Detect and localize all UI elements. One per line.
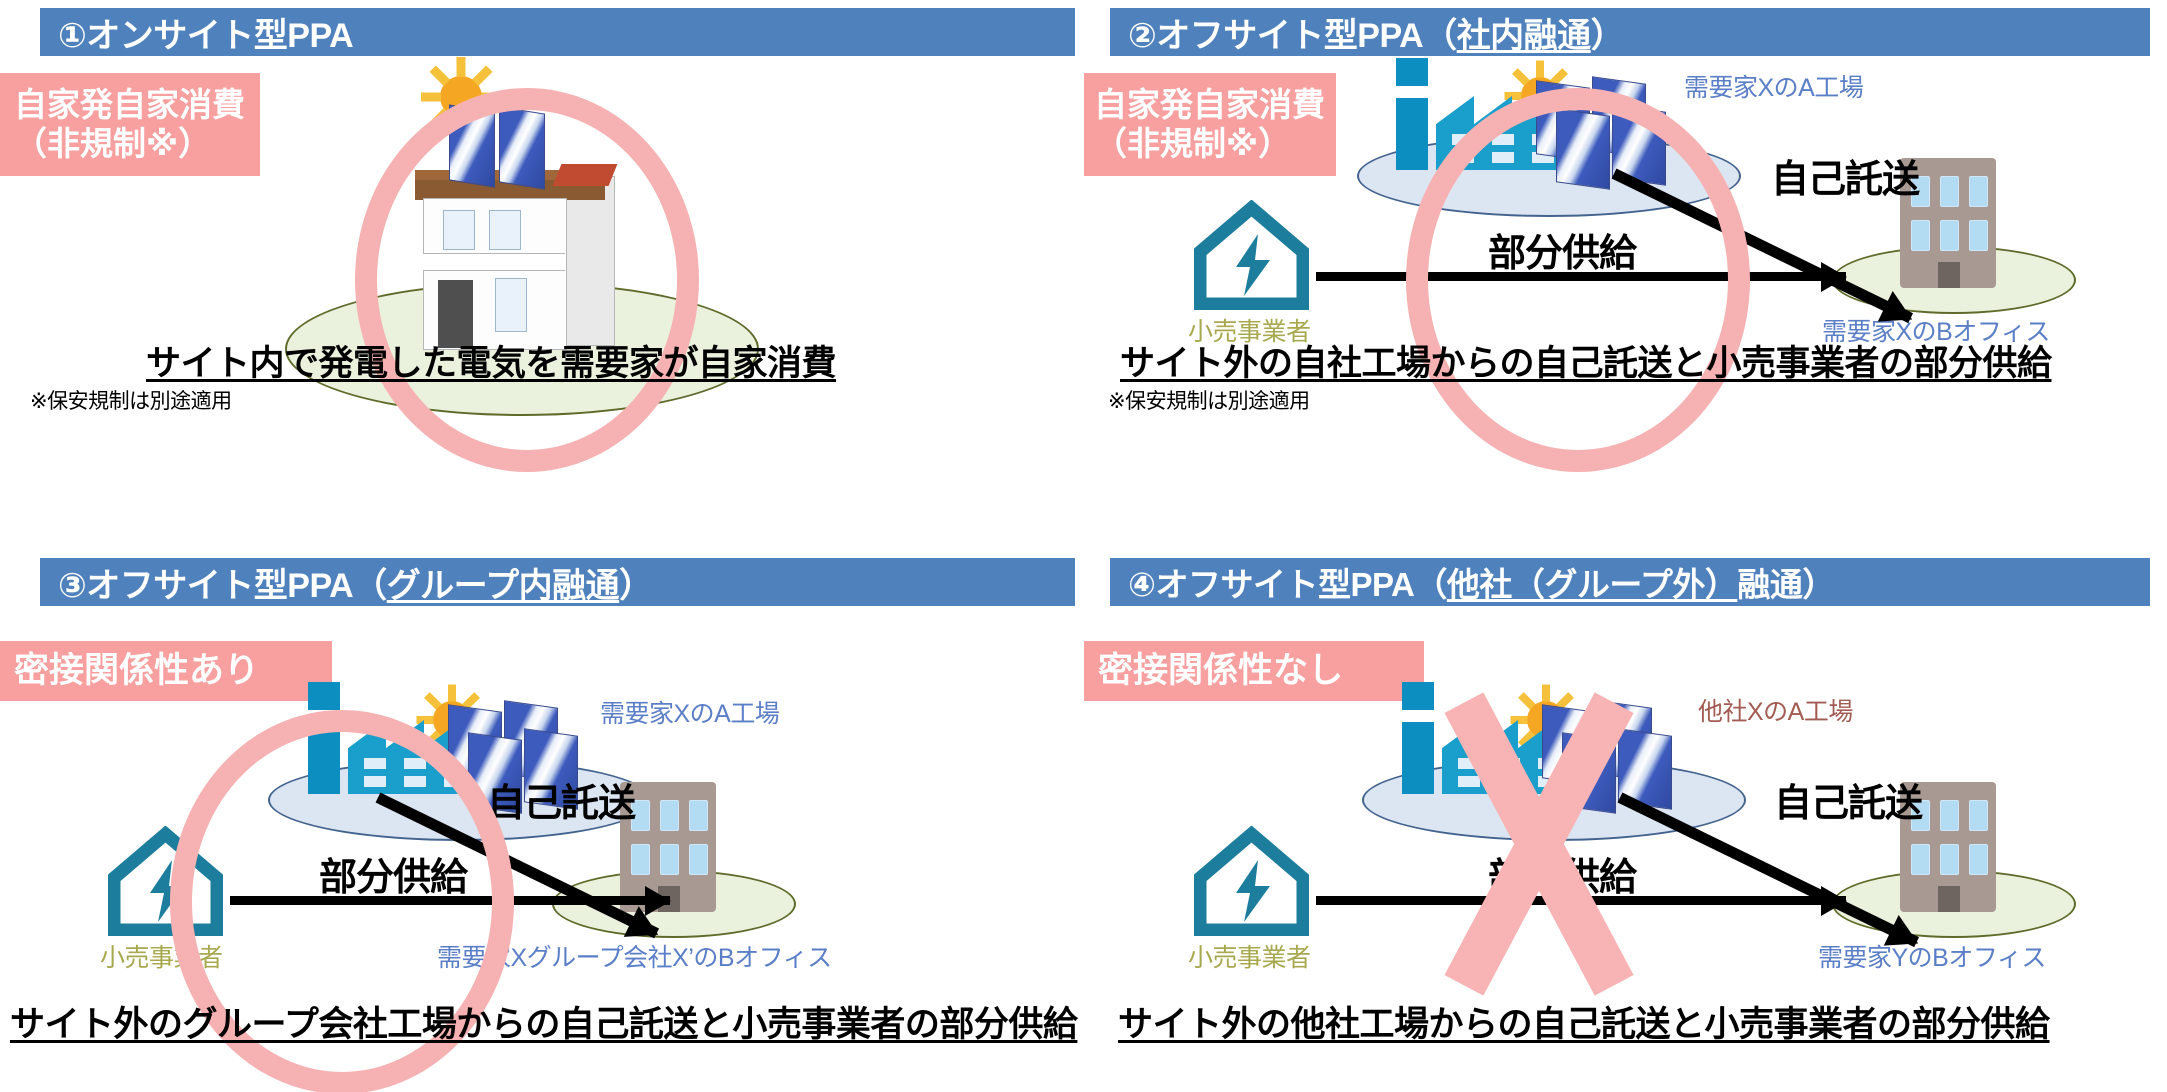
panel-header-3-underlined: グループ内融通 xyxy=(387,558,619,607)
self-wheeling-label-4: 自己託送 xyxy=(1774,772,1922,827)
factory-label-3: 需要家XのA工場 xyxy=(600,694,779,730)
prohibition-circle-icon-2 xyxy=(1406,88,1750,472)
badge-close-relation-4: 密接関係性なし xyxy=(1084,641,1424,701)
panel-header-2-suffix: ） xyxy=(1591,8,1625,57)
panel-header-3-suffix: ） xyxy=(619,558,653,607)
factory-label-2: 需要家XのA工場 xyxy=(1684,68,1863,104)
panel-header-2-prefix: ②オフサイト型PPA（ xyxy=(1128,8,1457,57)
caption-4: サイト外の他社工場からの自己託送と小売事業者の部分供給 xyxy=(1118,996,2050,1047)
office-label-4: 需要家YのBオフィス xyxy=(1818,938,2046,974)
panel-header-1: ①オンサイト型PPA xyxy=(40,8,1075,56)
panel-header-2: ②オフサイト型PPA（社内融通） xyxy=(1110,8,2150,56)
lightning-bolt-icon-2 xyxy=(1230,234,1276,296)
badge-self-generation-1: 自家発自家消費 （非規制※） xyxy=(0,73,260,176)
badge-close-relation-3: 密接関係性あり xyxy=(0,641,332,701)
footnote-1: ※保安規制は別途適用 xyxy=(30,385,232,415)
prohibition-circle-icon-1 xyxy=(355,88,699,472)
factory-label-4: 他社XのA工場 xyxy=(1698,692,1853,728)
panel-header-4-underlined: 他社（グループ外） xyxy=(1447,558,1738,606)
badge-self-generation-2: 自家発自家消費 （非規制※） xyxy=(1084,73,1336,176)
badge-line-2a: 自家発自家消費 xyxy=(1094,86,1336,125)
panel-header-1-text: ①オンサイト型PPA xyxy=(58,8,353,57)
panel-header-3-prefix: ③オフサイト型PPA（ xyxy=(58,558,387,607)
cross-mark-icon-4 xyxy=(1384,684,1694,1004)
caption-1: サイト内で発電した電気を需要家が自家消費 xyxy=(146,335,836,386)
panel-header-4-suffix: 融通） xyxy=(1737,558,1835,606)
panel-header-2-underlined: 社内融通 xyxy=(1457,8,1591,57)
panel-onsite-ppa: ①オンサイト型PPA 自家発自家消費 （非規制※） xyxy=(0,0,1083,546)
badge-line-1b: （非規制※） xyxy=(14,125,260,164)
badge-line-1a: 自家発自家消費 xyxy=(14,86,260,125)
panel-header-4: ④オフサイト型PPA（他社（グループ外）融通） xyxy=(1110,558,2150,606)
caption-3: サイト外のグループ会社工場からの自己託送と小売事業者の部分供給 xyxy=(10,996,1077,1047)
lightning-bolt-icon-4 xyxy=(1230,860,1276,922)
badge-line-4a: 密接関係性なし xyxy=(1098,650,1424,691)
badge-line-3a: 密接関係性あり xyxy=(14,650,332,691)
panel-offsite-ppa-internal: ②オフサイト型PPA（社内融通） 自家発自家消費 （非規制※） xyxy=(1084,0,2167,546)
ppa-types-diagram: ①オンサイト型PPA 自家発自家消費 （非規制※） xyxy=(0,0,2167,1092)
retailer-label-4: 小売事業者 xyxy=(1188,938,1311,974)
badge-line-2b: （非規制※） xyxy=(1094,125,1336,164)
self-wheeling-label-3: 自己託送 xyxy=(487,772,635,827)
self-wheeling-label-2: 自己託送 xyxy=(1771,148,1919,203)
retail-house-icon-2 xyxy=(1194,200,1309,310)
panel-header-4-prefix: ④オフサイト型PPA（ xyxy=(1128,558,1447,606)
footnote-2: ※保安規制は別途適用 xyxy=(1108,385,1310,415)
retail-house-icon-4 xyxy=(1194,826,1309,936)
panel-offsite-ppa-other: ④オフサイト型PPA（他社（グループ外）融通） 密接関係性なし xyxy=(1084,546,2167,1092)
panel-offsite-ppa-group: ③オフサイト型PPA（グループ内融通） 密接関係性あり xyxy=(0,546,1083,1092)
caption-2: サイト外の自社工場からの自己託送と小売事業者の部分供給 xyxy=(1120,335,2052,386)
panel-header-3: ③オフサイト型PPA（グループ内融通） xyxy=(40,558,1075,606)
